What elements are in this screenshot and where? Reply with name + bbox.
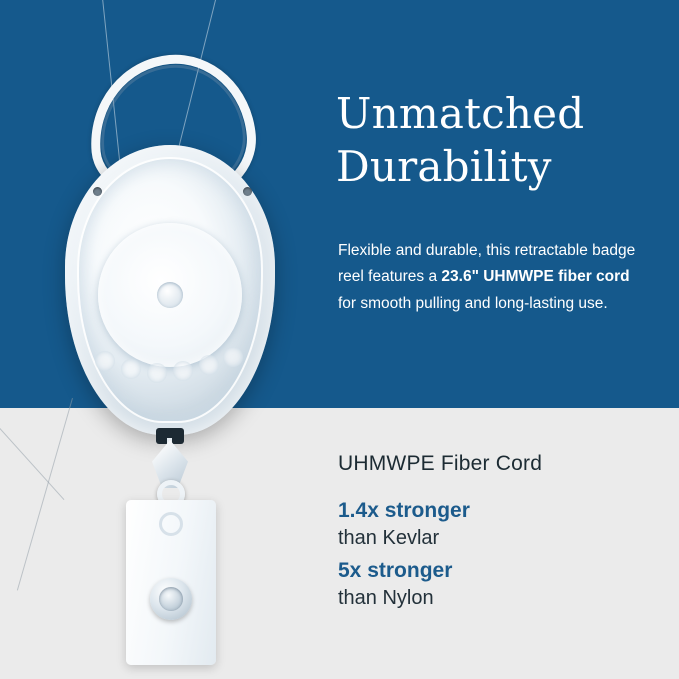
bottom-subtitle: UHMWPE Fiber Cord [338, 452, 542, 476]
reel-texture-dot [121, 359, 141, 379]
reel-rivet-right [243, 187, 252, 196]
strap-hole [159, 512, 183, 536]
vinyl-strap [126, 500, 216, 665]
reel-rivet-left [93, 187, 102, 196]
reel-texture-dot [199, 355, 219, 375]
stat-block-2: 5x stronger than Nylon [338, 558, 658, 611]
stat-value-1: 1.4x stronger [338, 498, 658, 525]
stat-comparison-1: than Kevlar [338, 525, 658, 551]
stat-block-1: 1.4x stronger than Kevlar [338, 498, 658, 551]
product-feature-graphic: Unmatched Durability Flexible and durabl… [0, 0, 679, 679]
background-diagonal-line-4 [0, 395, 64, 500]
stat-comparison-2: than Nylon [338, 585, 658, 611]
body-copy: Flexible and durable, this retractable b… [338, 238, 638, 318]
product-image [60, 40, 310, 640]
body-copy-suffix: for smooth pulling and long-lasting use. [338, 295, 608, 312]
stat-value-2: 5x stronger [338, 558, 658, 585]
reel-bottom-texture [95, 345, 245, 385]
reel-texture-dot [223, 347, 243, 367]
headline: Unmatched Durability [336, 88, 656, 193]
body-copy-highlight: 23.6" UHMWPE fiber cord [441, 268, 629, 285]
snap-button-inner [159, 587, 183, 611]
reel-texture-dot [95, 351, 115, 371]
reel-texture-dot [147, 363, 167, 383]
headline-line-2: Durability [336, 141, 656, 194]
reel-texture-dot [173, 361, 193, 381]
reel-center-hub [157, 282, 183, 308]
headline-line-1: Unmatched [336, 89, 584, 138]
reel-housing [65, 145, 275, 435]
